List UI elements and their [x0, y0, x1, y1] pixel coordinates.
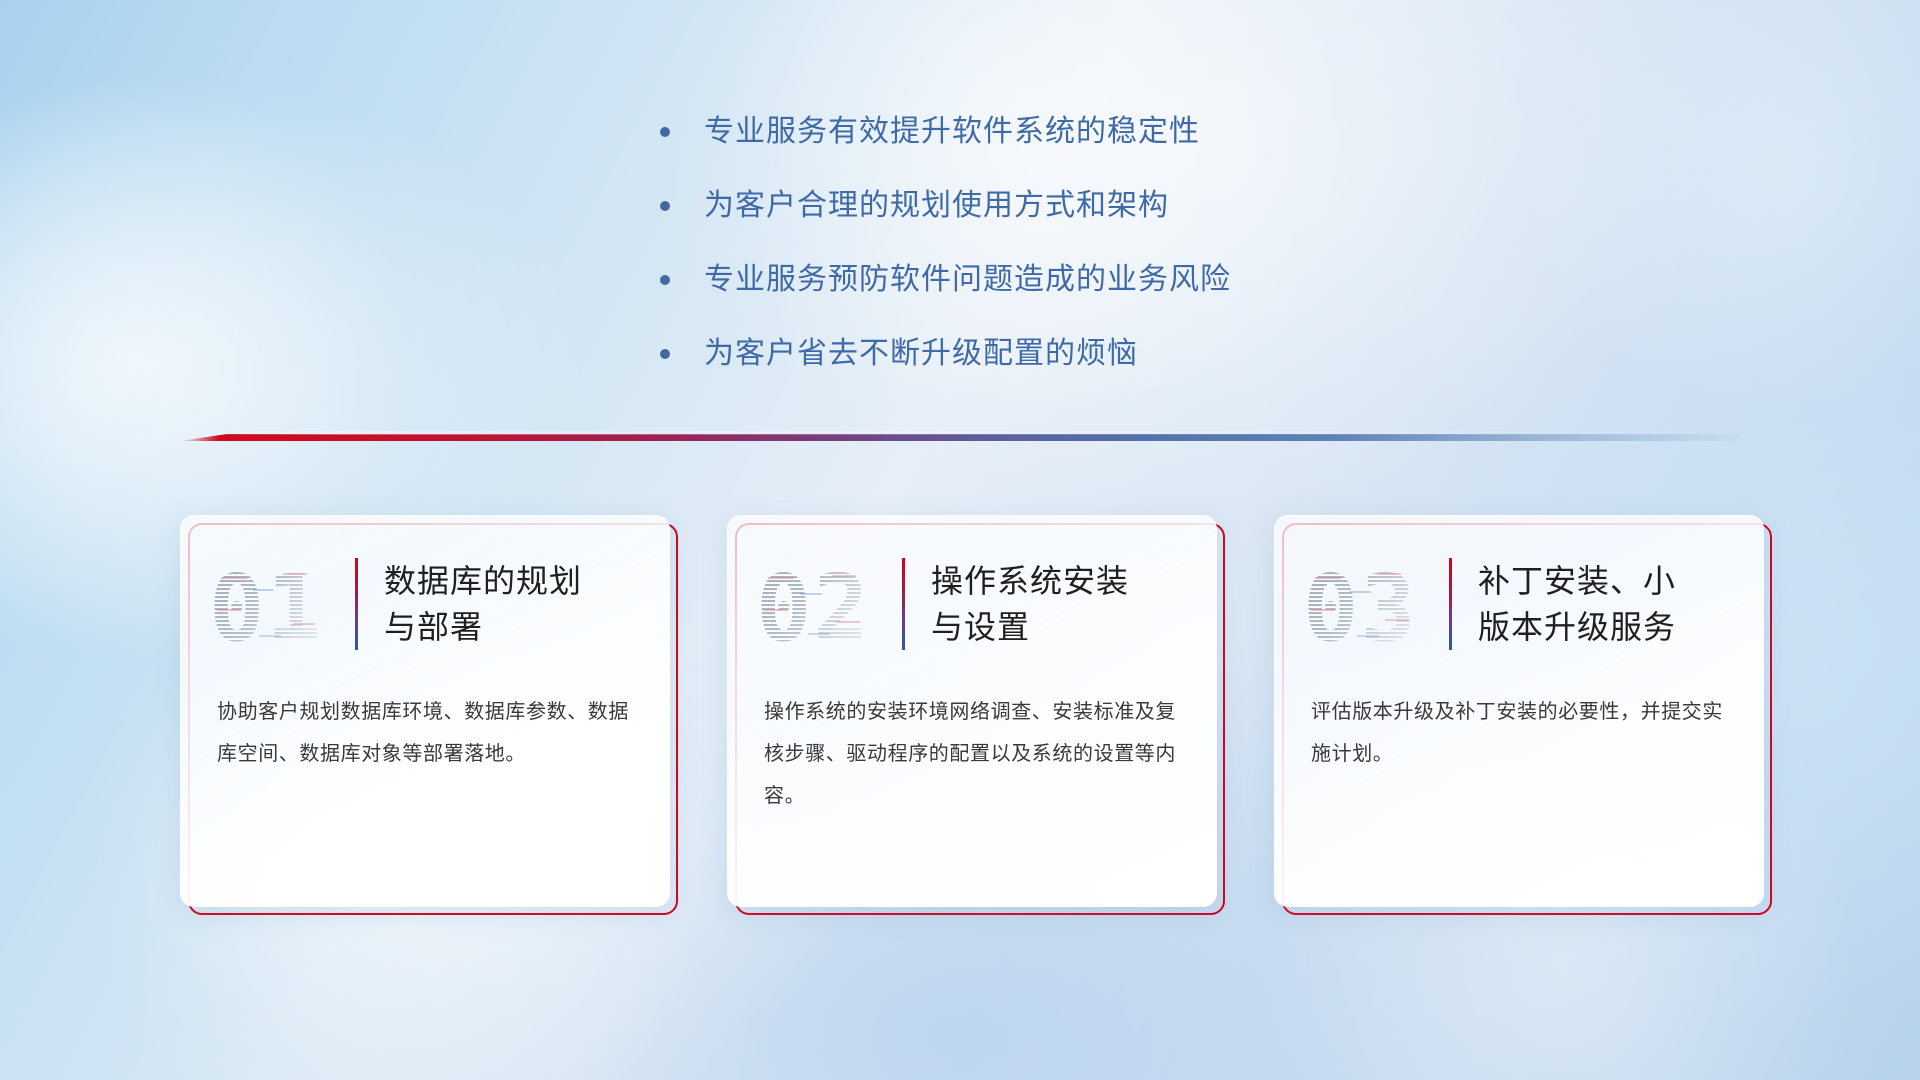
card-number-glyph: 02	[756, 555, 871, 660]
bullet-dot-icon	[660, 349, 670, 359]
service-card-03[interactable]: 03 补丁安装、小 版本升级服务	[1274, 515, 1764, 907]
card-header: 03 补丁安装、小 版本升级服务	[1275, 516, 1763, 691]
slide-canvas: 专业服务有效提升软件系统的稳定性 为客户合理的规划使用方式和架构 专业服务预防软…	[0, 0, 1920, 1080]
bullet-label: 为客户合理的规划使用方式和架构	[704, 184, 1169, 228]
bullet-label: 专业服务有效提升软件系统的稳定性	[704, 110, 1200, 154]
list-item: 专业服务有效提升软件系统的稳定性	[660, 110, 1440, 154]
bullet-label: 专业服务预防软件问题造成的业务风险	[704, 258, 1231, 302]
list-item: 为客户合理的规划使用方式和架构	[660, 184, 1440, 228]
bullet-dot-icon	[660, 127, 670, 137]
service-card-02[interactable]: 02 操作系统安装 与设置	[727, 515, 1217, 907]
card-number-striped-icon: 03	[1301, 548, 1439, 660]
card-header: 01 数据库的规划 与部署	[181, 516, 669, 691]
card-surface: 02 操作系统安装 与设置	[727, 515, 1217, 907]
card-title-line-1: 补丁安装、小	[1478, 558, 1741, 604]
card-description: 操作系统的安装环境网络调查、安装标准及复核步骤、驱动程序的配置以及系统的设置等内…	[728, 691, 1216, 817]
card-title: 数据库的规划 与部署	[384, 558, 647, 650]
list-item: 专业服务预防软件问题造成的业务风险	[660, 258, 1440, 302]
card-title-line-2: 与部署	[384, 604, 647, 650]
card-title: 补丁安装、小 版本升级服务	[1478, 558, 1741, 650]
card-surface: 03 补丁安装、小 版本升级服务	[1274, 515, 1764, 907]
card-number-glyph: 03	[1303, 555, 1418, 660]
card-number-glyph: 01	[209, 555, 324, 660]
background-glow-top-right	[1500, 0, 1920, 400]
card-title-line-2: 与设置	[931, 604, 1194, 650]
bullet-dot-icon	[660, 275, 670, 285]
card-description: 协助客户规划数据库环境、数据库参数、数据库空间、数据库对象等部署落地。	[181, 691, 669, 775]
list-item: 为客户省去不断升级配置的烦恼	[660, 332, 1440, 376]
card-title-line-1: 操作系统安装	[931, 558, 1194, 604]
bullet-label: 为客户省去不断升级配置的烦恼	[704, 332, 1138, 376]
section-divider	[180, 430, 1740, 444]
card-title-line-1: 数据库的规划	[384, 558, 647, 604]
bullet-dot-icon	[660, 201, 670, 211]
card-header: 02 操作系统安装 与设置	[728, 516, 1216, 691]
service-card-01[interactable]: 01 数据库的规划 与部署	[180, 515, 670, 907]
benefits-bullet-list: 专业服务有效提升软件系统的稳定性 为客户合理的规划使用方式和架构 专业服务预防软…	[660, 110, 1440, 406]
card-number-striped-icon: 01	[207, 548, 345, 660]
card-surface: 01 数据库的规划 与部署	[180, 515, 670, 907]
card-divider-bar	[355, 558, 358, 650]
card-title-line-2: 版本升级服务	[1478, 604, 1741, 650]
card-divider-bar	[902, 558, 905, 650]
service-cards-row: 01 数据库的规划 与部署	[180, 515, 1764, 907]
divider-sheen	[180, 431, 1740, 435]
card-number-striped-icon: 02	[754, 548, 892, 660]
card-divider-bar	[1449, 558, 1452, 650]
divider-bar	[180, 434, 1740, 441]
card-description: 评估版本升级及补丁安装的必要性，并提交实施计划。	[1275, 691, 1763, 775]
card-title: 操作系统安装 与设置	[931, 558, 1194, 650]
